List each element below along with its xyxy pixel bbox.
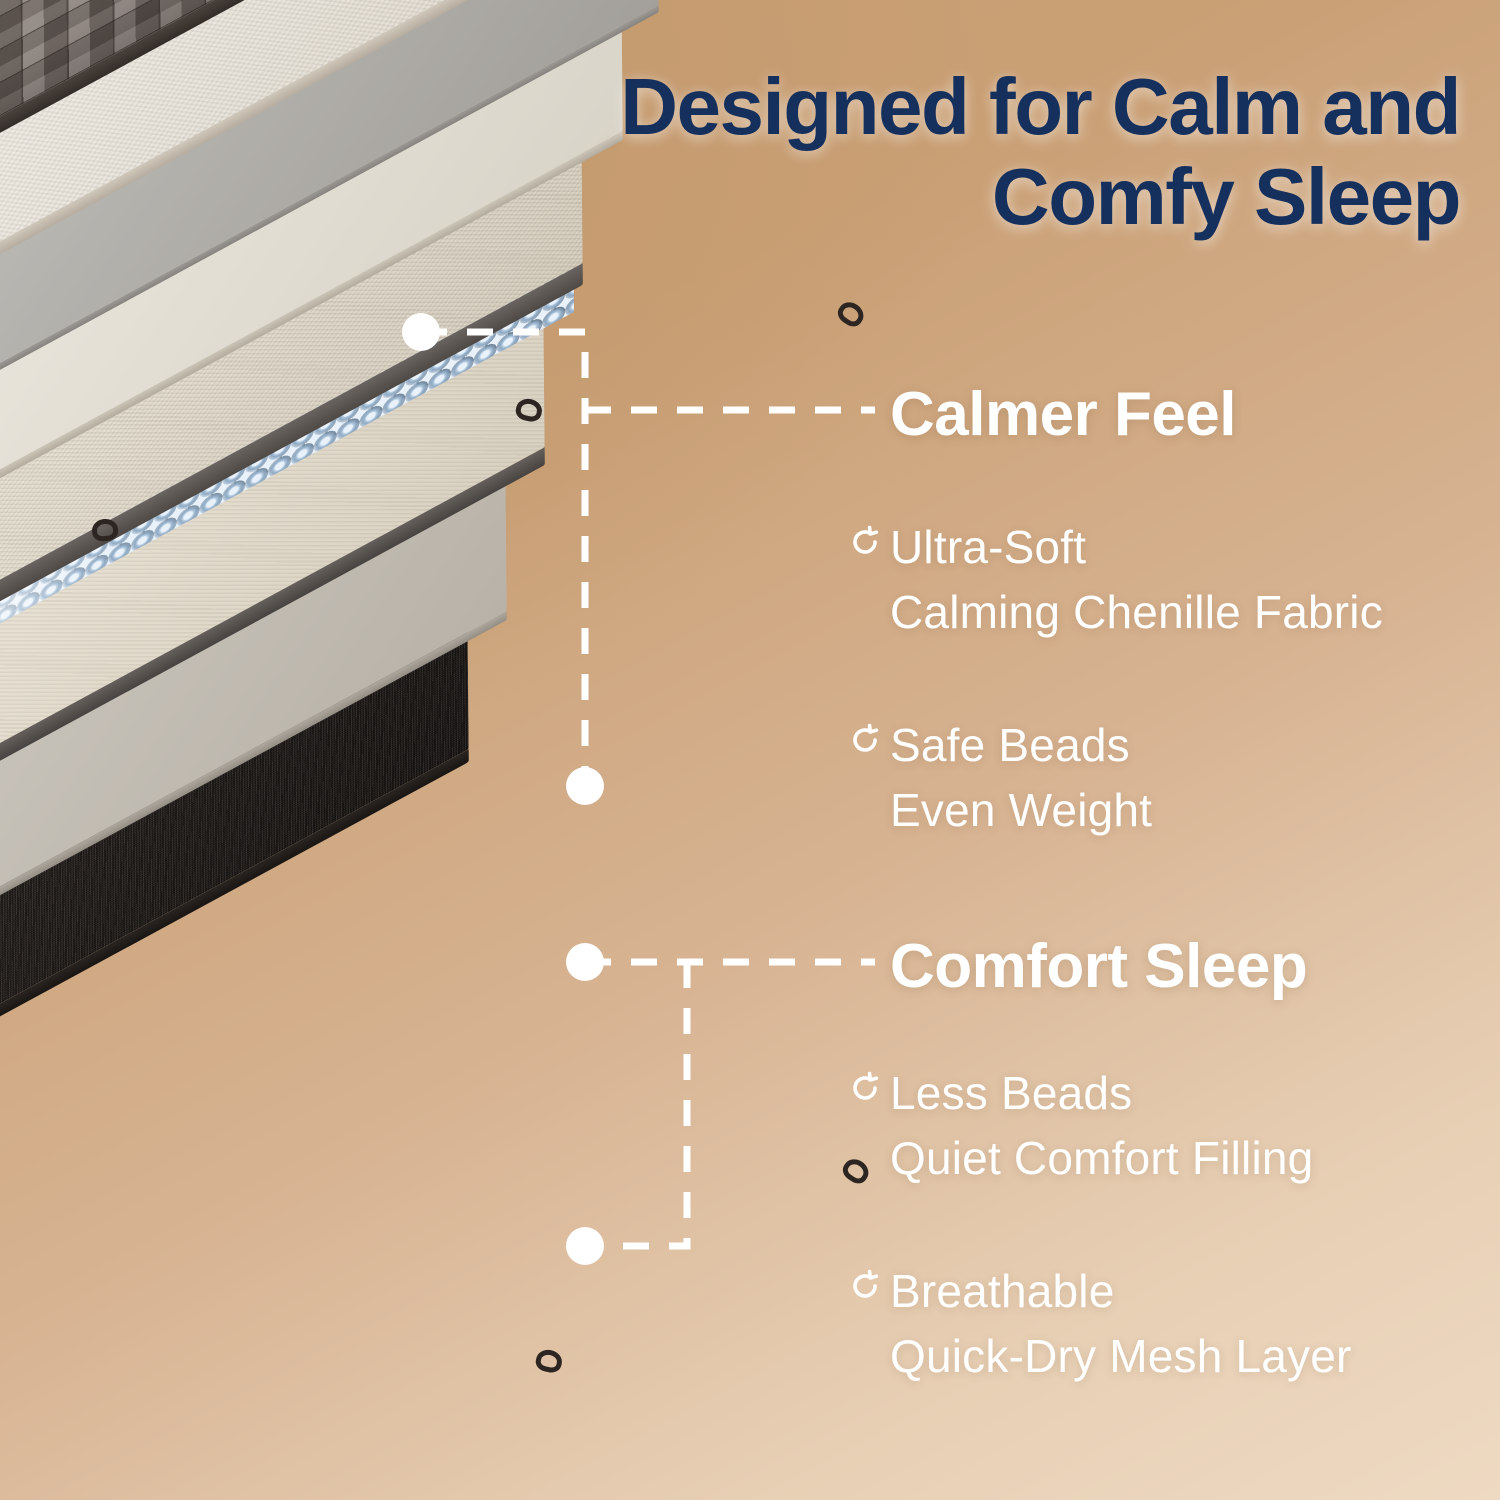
feature-bullet-line-1: Ultra-Soft: [850, 515, 1383, 580]
feature-bullet-line-2: Quiet Comfort Filling: [850, 1126, 1313, 1191]
arc-refresh-icon: [848, 1071, 882, 1105]
feature-bullet-safe-beads: Safe Beads Even Weight: [850, 713, 1152, 844]
arc-refresh-icon: [848, 723, 882, 757]
feature-bullet-line-2: Calming Chenille Fabric: [850, 580, 1383, 645]
feature-bullet-less-beads: Less Beads Quiet Comfort Filling: [850, 1061, 1313, 1192]
page-title: Designed for Calm and Comfy Sleep: [370, 62, 1460, 241]
feature-bullet-line-1: Breathable: [850, 1259, 1352, 1324]
title-line-2: Comfy Sleep: [992, 152, 1460, 241]
infographic-canvas: Designed for Calm and Comfy Sleep Calmer…: [0, 0, 1500, 1500]
feature-bullet-line-2: Quick-Dry Mesh Layer: [850, 1324, 1352, 1389]
feature-bullet-ultra-soft: Ultra-Soft Calming Chenille Fabric: [850, 515, 1383, 646]
feature-bullet-line-1: Less Beads: [850, 1061, 1313, 1126]
feature-heading-comfort-sleep: Comfort Sleep: [890, 931, 1307, 1002]
arc-refresh-icon: [848, 525, 882, 559]
feature-bullet-breathable: Breathable Quick-Dry Mesh Layer: [850, 1259, 1352, 1390]
feature-bullet-line-1: Safe Beads: [850, 713, 1152, 778]
feature-heading-calmer-feel: Calmer Feel: [890, 379, 1236, 450]
arc-refresh-icon: [848, 1269, 882, 1303]
title-line-1: Designed for Calm and: [620, 62, 1460, 151]
feature-bullet-line-2: Even Weight: [850, 778, 1152, 843]
